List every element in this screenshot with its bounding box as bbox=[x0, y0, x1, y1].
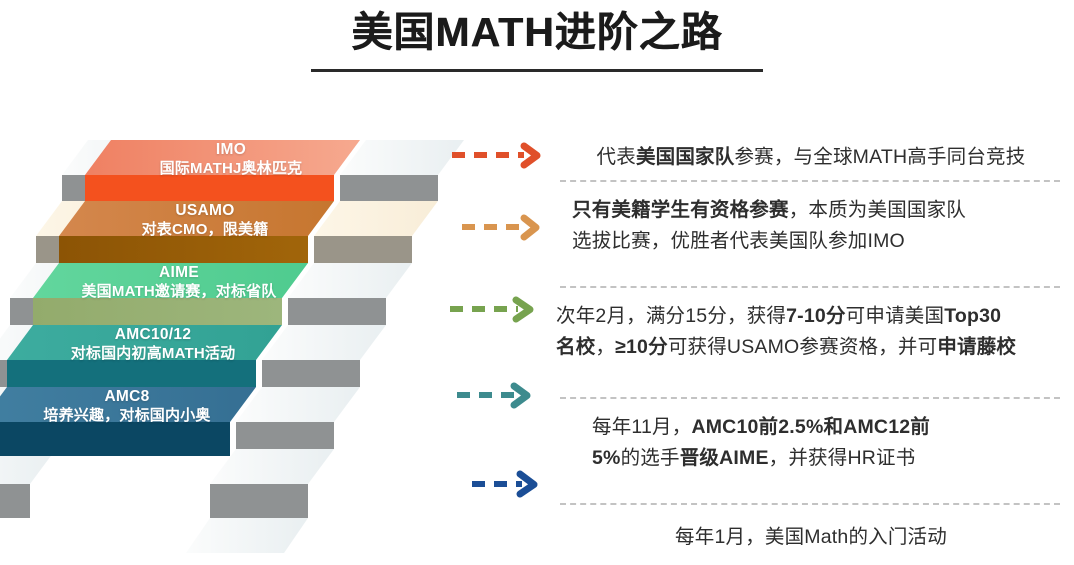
gray-step-left-5 bbox=[0, 449, 56, 518]
desc-imo-line-1: 代表美国国家队参赛，与全球MATH高手同台竞技 bbox=[556, 142, 1066, 173]
desc-seg-bold: 美国国家队 bbox=[636, 146, 735, 168]
desc-amc1012-line-2: 5%的选手晋级AIME，并获得HR证书 bbox=[592, 443, 1066, 474]
desc-seg-bold: 5% bbox=[592, 447, 621, 469]
desc-seg: 参赛，与全球MATH高手同台竞技 bbox=[734, 146, 1025, 168]
desc-aime-line-2: 名校，≥10分可获得USAMO参赛资格，并可申请藤校 bbox=[556, 332, 1066, 363]
step-imo[interactable] bbox=[85, 140, 360, 201]
desc-seg: 每年1月，美国Math的入门活动 bbox=[675, 526, 947, 548]
title-underline bbox=[311, 69, 763, 72]
pyramid-staircase: IMO 国际MATHJ奥林匹克 USAMO 对表CMO，限美籍 AIME 美国M… bbox=[0, 118, 540, 565]
desc-seg: 每年11月， bbox=[592, 416, 691, 438]
desc-seg: ，本质为美国国家队 bbox=[789, 199, 966, 221]
desc-seg: 代表 bbox=[597, 146, 636, 168]
separator-3 bbox=[560, 397, 1060, 399]
step-amc8[interactable] bbox=[0, 387, 256, 456]
page-title: 美国MATH进阶之路 bbox=[0, 6, 1074, 58]
desc-seg: 可申请美国 bbox=[846, 305, 945, 327]
desc-seg: 次年2月，满分15分，获得 bbox=[556, 305, 786, 327]
desc-usamo: 只有美籍学生有资格参赛，本质为美国国家队 选拔比赛，优胜者代表美国队参加IMO bbox=[556, 195, 1066, 257]
step-aime[interactable] bbox=[33, 263, 308, 325]
desc-usamo-line-1: 只有美籍学生有资格参赛，本质为美国国家队 bbox=[572, 195, 1066, 226]
desc-seg-bold: ≥10分 bbox=[615, 336, 668, 358]
step-amc1012[interactable] bbox=[7, 325, 282, 387]
desc-seg: ， bbox=[595, 336, 615, 358]
desc-amc8: 每年1月，美国Math的入门活动 bbox=[556, 522, 1066, 553]
desc-seg-bold: AMC10前2.5%和AMC12前 bbox=[691, 416, 930, 438]
separator-4 bbox=[560, 503, 1060, 505]
desc-seg-bold: 晋级AIME bbox=[680, 447, 769, 469]
description-column: 代表美国国家队参赛，与全球MATH高手同台竞技 只有美籍学生有资格参赛，本质为美… bbox=[556, 120, 1066, 540]
desc-seg: ，并获得HR证书 bbox=[769, 447, 916, 469]
desc-amc1012-line-1: 每年11月，AMC10前2.5%和AMC12前 bbox=[592, 412, 1066, 443]
desc-seg-bold: Top30 bbox=[944, 305, 1001, 327]
desc-aime-line-1: 次年2月，满分15分，获得7-10分可申请美国Top30 bbox=[556, 301, 1066, 332]
desc-seg: 可获得USAMO参赛资格，并可 bbox=[668, 336, 938, 358]
gray-step-right-6 bbox=[186, 484, 308, 553]
desc-amc1012: 每年11月，AMC10前2.5%和AMC12前 5%的选手晋级AIME，并获得H… bbox=[556, 412, 1066, 474]
desc-aime: 次年2月，满分15分，获得7-10分可申请美国Top30 名校，≥10分可获得U… bbox=[556, 301, 1066, 363]
desc-seg: 选拔比赛，优胜者代表美国队参加IMO bbox=[572, 230, 905, 252]
desc-usamo-line-2: 选拔比赛，优胜者代表美国队参加IMO bbox=[572, 226, 1066, 257]
desc-seg-bold: 只有美籍学生有资格参赛 bbox=[572, 199, 789, 221]
desc-seg: 的选手 bbox=[621, 447, 680, 469]
step-usamo[interactable] bbox=[59, 201, 334, 263]
desc-amc8-line-1: 每年1月，美国Math的入门活动 bbox=[556, 522, 1066, 553]
desc-seg-bold: 名校 bbox=[556, 336, 595, 358]
desc-seg-bold: 申请藤校 bbox=[937, 336, 1016, 358]
desc-seg-bold: 7-10分 bbox=[786, 305, 846, 327]
separator-2 bbox=[560, 286, 1060, 288]
gray-step-right-0 bbox=[340, 140, 464, 175]
title-area: 美国MATH进阶之路 bbox=[0, 6, 1074, 72]
desc-imo: 代表美国国家队参赛，与全球MATH高手同台竞技 bbox=[556, 142, 1066, 173]
separator-1 bbox=[560, 180, 1060, 182]
staircase-svg bbox=[0, 118, 540, 565]
